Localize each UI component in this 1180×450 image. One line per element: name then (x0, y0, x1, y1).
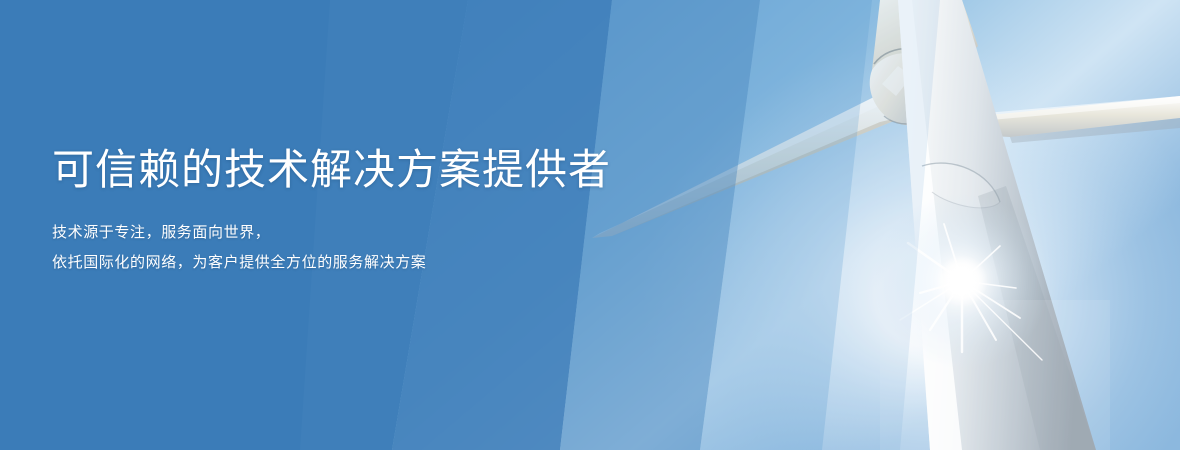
page-title: 可信赖的技术解决方案提供者 (52, 146, 692, 194)
hero-banner: 可信赖的技术解决方案提供者 技术源于专注，服务面向世界， 依托国际化的网络，为客… (0, 0, 1180, 450)
hero-text-block: 可信赖的技术解决方案提供者 技术源于专注，服务面向世界， 依托国际化的网络，为客… (52, 146, 692, 278)
subtitle-line-2: 依托国际化的网络，为客户提供全方位的服务解决方案 (52, 248, 692, 278)
subtitle-line-1: 技术源于专注，服务面向世界， (52, 218, 692, 248)
hero-subtitle: 技术源于专注，服务面向世界， 依托国际化的网络，为客户提供全方位的服务解决方案 (52, 194, 692, 278)
